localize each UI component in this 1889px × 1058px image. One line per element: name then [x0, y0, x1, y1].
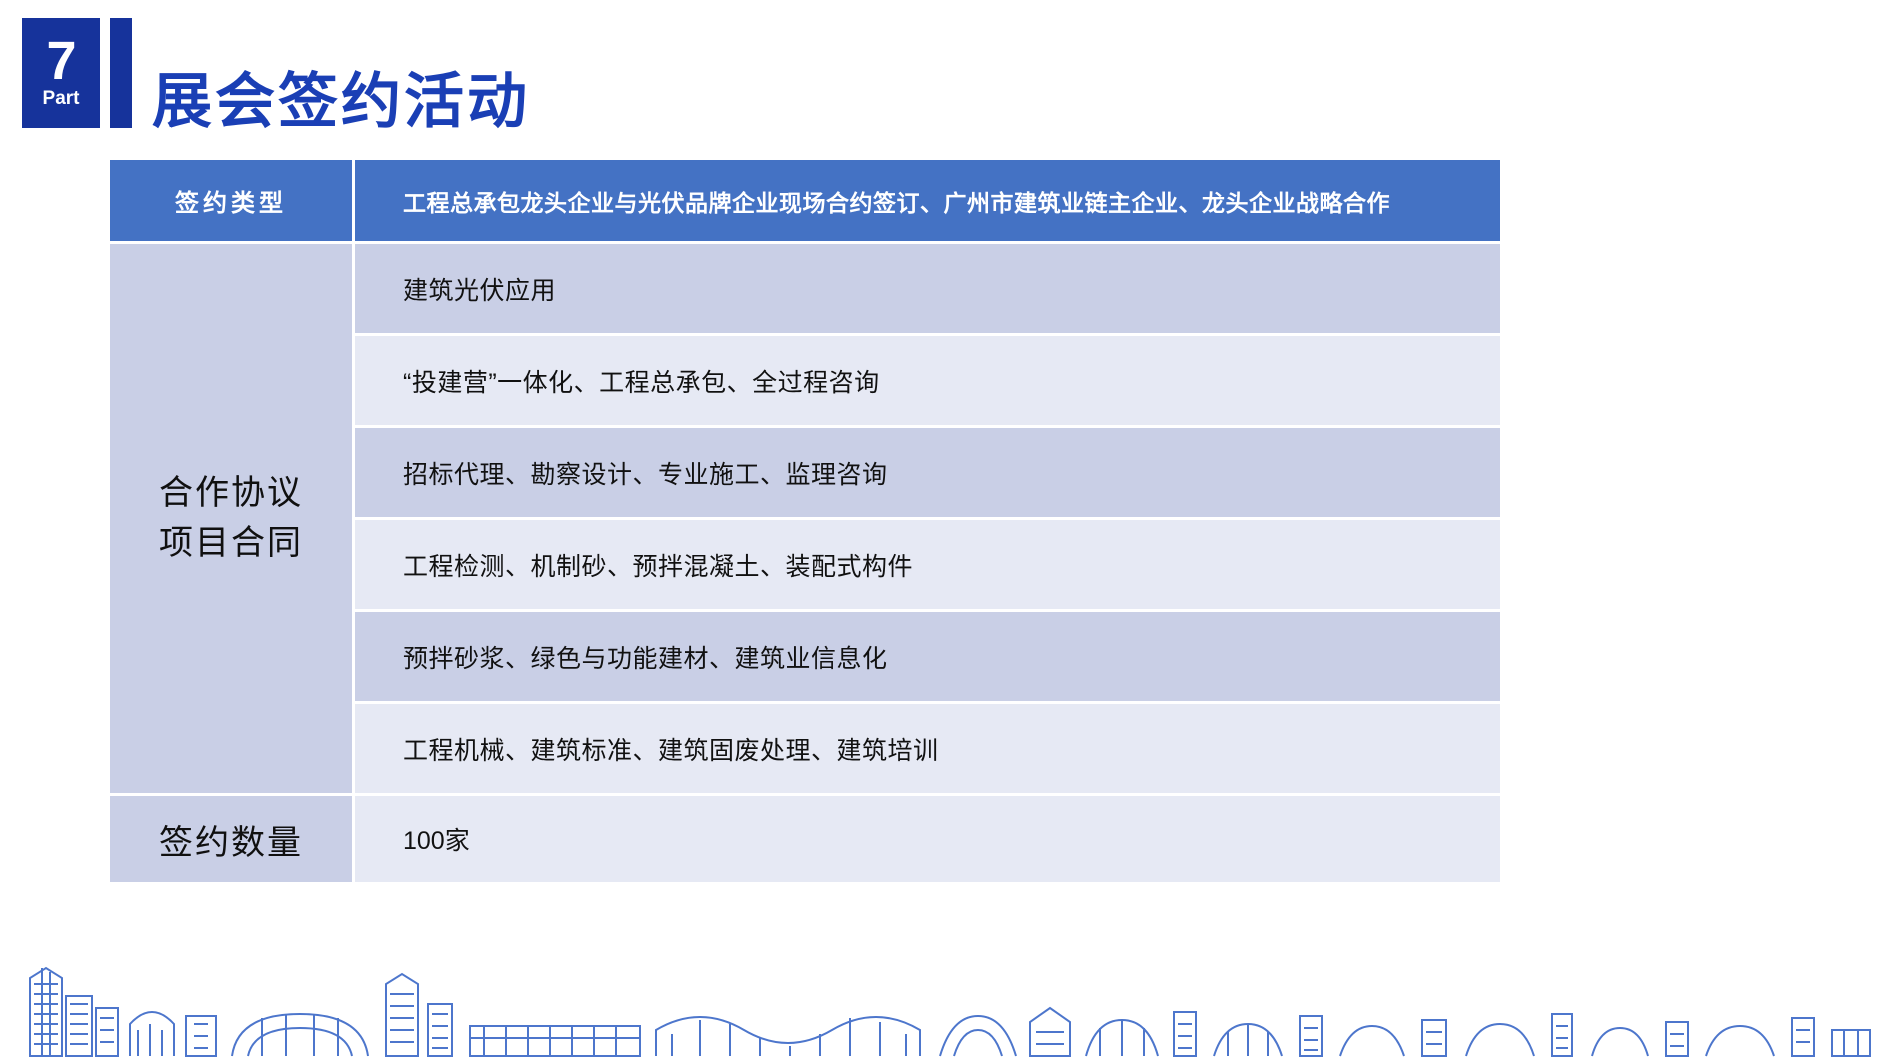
agreement-item: 建筑光伏应用: [355, 244, 1500, 333]
agreement-item: 招标代理、勘察设计、专业施工、监理咨询: [355, 428, 1500, 517]
accent-bar: [110, 18, 132, 128]
signing-table-container: 签约类型 工程总承包龙头企业与光伏品牌企业现场合约签订、广州市建筑业链主企业、龙…: [110, 157, 1500, 885]
table-row: 合作协议 项目合同 建筑光伏应用: [110, 244, 1500, 333]
row-label-line-1: 合作协议: [111, 469, 351, 518]
header-label-signing-type: 签约类型: [110, 160, 355, 241]
row-label-line-2: 项目合同: [111, 519, 351, 568]
signing-count-value: 100家: [355, 796, 1500, 882]
row-label-cooperation-agreement: 合作协议 项目合同: [110, 244, 355, 793]
part-number: 7: [46, 36, 75, 87]
table-header-row: 签约类型 工程总承包龙头企业与光伏品牌企业现场合约签订、广州市建筑业链主企业、龙…: [110, 160, 1500, 241]
table-row-signing-count: 签约数量 100家: [110, 796, 1500, 882]
page-title: 展会签约活动: [152, 66, 530, 138]
header-value-signing-type: 工程总承包龙头企业与光伏品牌企业现场合约签订、广州市建筑业链主企业、龙头企业战略…: [355, 160, 1500, 241]
signing-activity-table: 签约类型 工程总承包龙头企业与光伏品牌企业现场合约签订、广州市建筑业链主企业、龙…: [110, 157, 1500, 885]
agreement-item: 预拌砂浆、绿色与功能建材、建筑业信息化: [355, 612, 1500, 701]
agreement-item: 工程机械、建筑标准、建筑固废处理、建筑培训: [355, 704, 1500, 793]
part-badge: 7 Part: [22, 18, 100, 128]
agreement-item: 工程检测、机制砂、预拌混凝土、装配式构件: [355, 520, 1500, 609]
part-word: Part: [43, 89, 80, 110]
row-label-signing-count: 签约数量: [110, 796, 355, 882]
city-skyline-decoration-icon: [0, 938, 1889, 1058]
slide-header: 7 Part 展会签约活动: [0, 0, 1889, 150]
agreement-item: “投建营”一体化、工程总承包、全过程咨询: [355, 336, 1500, 425]
